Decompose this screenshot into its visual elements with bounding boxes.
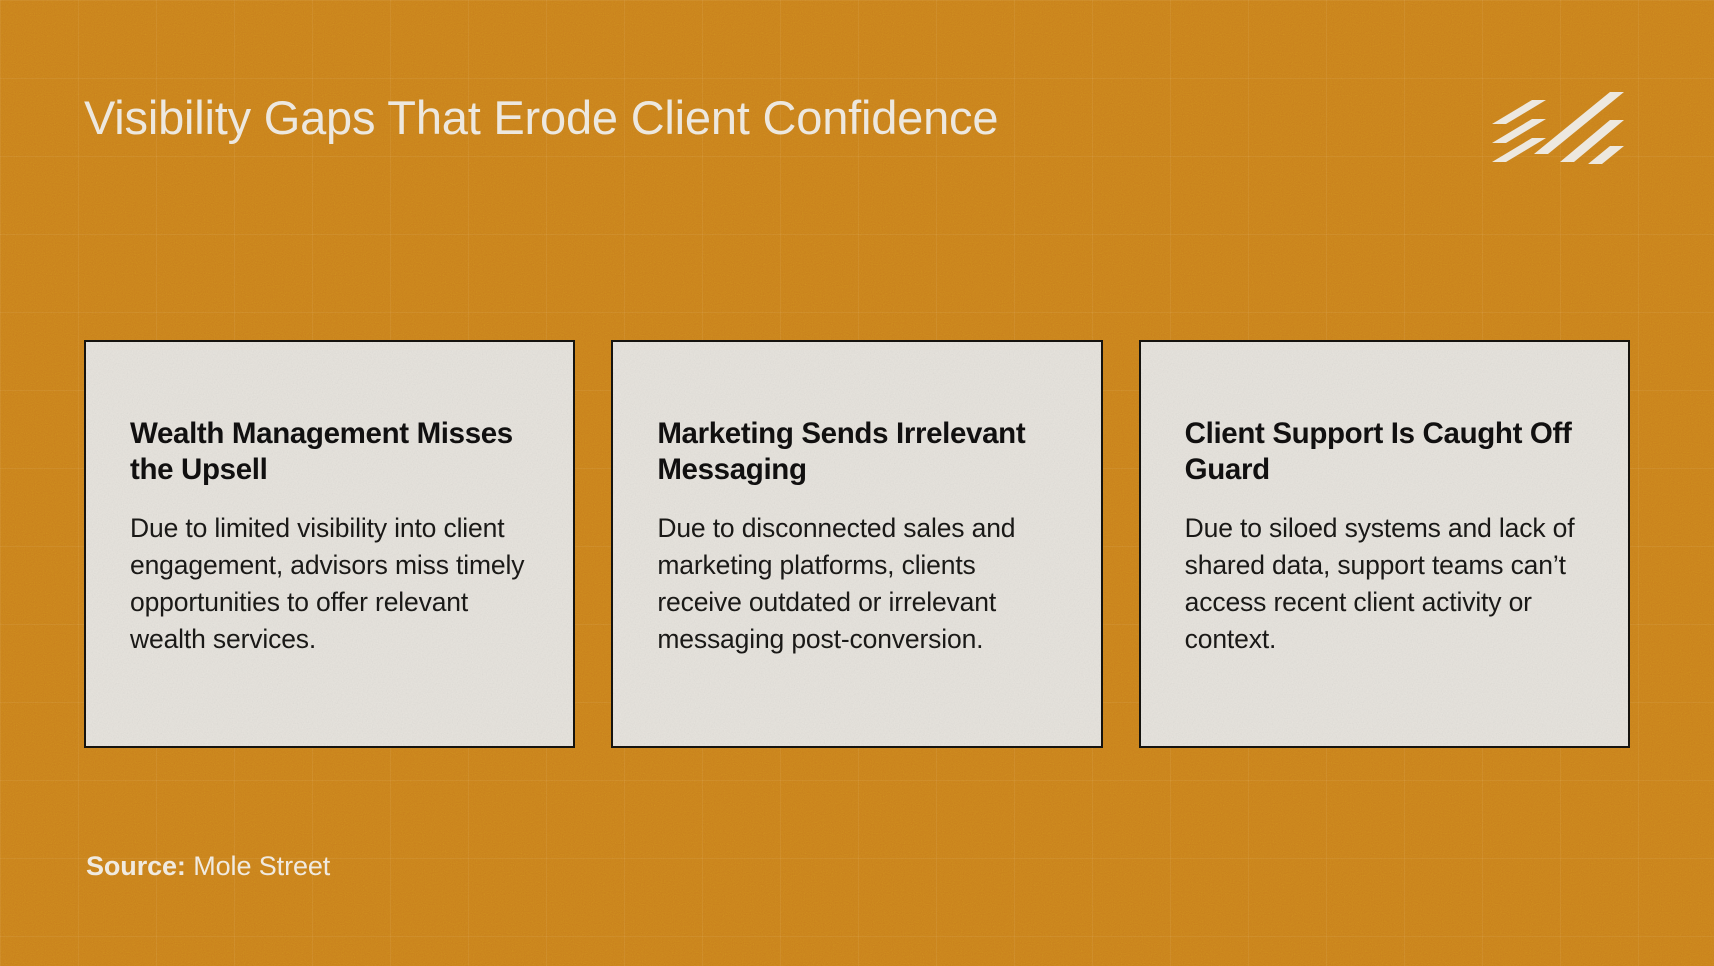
diagonal-stripes-logo — [1492, 88, 1628, 166]
card-client-support: Client Support Is Caught Off Guard Due t… — [1139, 340, 1630, 748]
card-title: Wealth Management Misses the Upsell — [130, 416, 531, 488]
cards-row: Wealth Management Misses the Upsell Due … — [84, 340, 1630, 748]
source-value: Mole Street — [193, 851, 330, 881]
card-body: Due to limited visibility into client en… — [130, 510, 531, 658]
card-title: Marketing Sends Irrelevant Messaging — [657, 416, 1058, 488]
page-title: Visibility Gaps That Erode Client Confid… — [84, 92, 1264, 145]
card-title: Client Support Is Caught Off Guard — [1185, 416, 1586, 488]
slide-canvas: Visibility Gaps That Erode Client Confid… — [0, 0, 1714, 966]
source-attribution: Source: Mole Street — [86, 851, 330, 882]
card-marketing-messaging: Marketing Sends Irrelevant Messaging Due… — [611, 340, 1102, 748]
source-label: Source: — [86, 851, 193, 881]
card-wealth-management: Wealth Management Misses the Upsell Due … — [84, 340, 575, 748]
card-body: Due to disconnected sales and marketing … — [657, 510, 1058, 658]
card-body: Due to siloed systems and lack of shared… — [1185, 510, 1586, 658]
